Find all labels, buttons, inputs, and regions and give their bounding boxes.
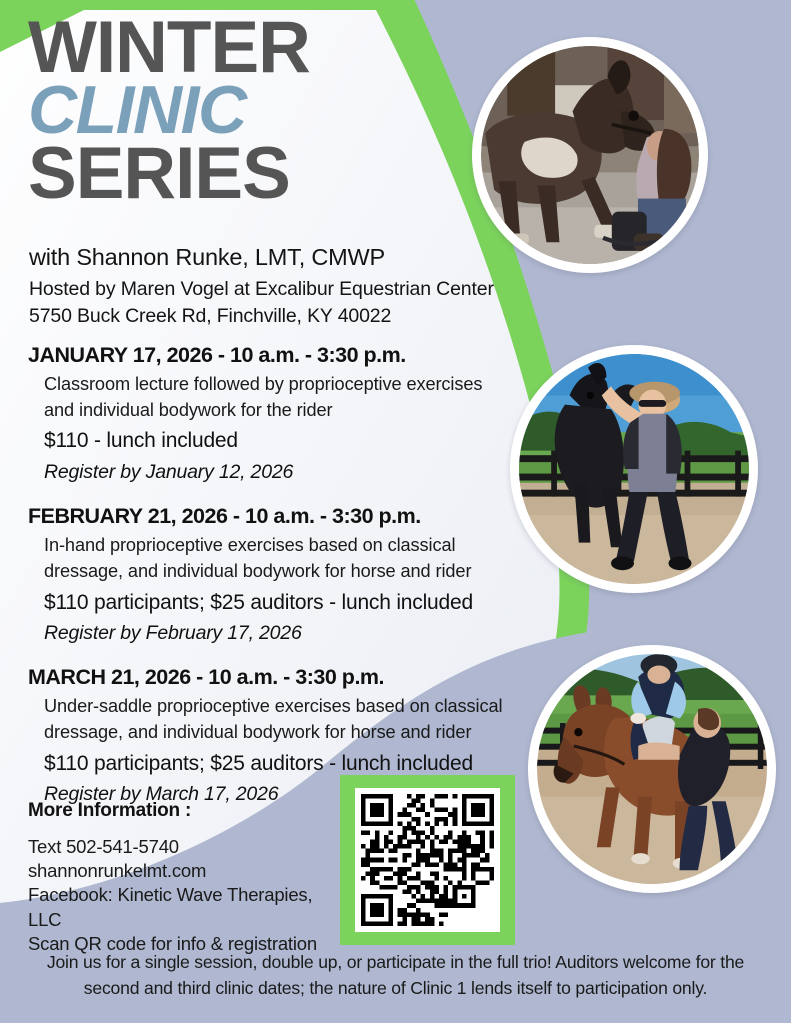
session-date: MARCH 21, 2026 - 10 a.m. - 3:30 p.m.	[28, 665, 528, 690]
venue-address: 5750 Buck Creek Rd, Finchville, KY 40022	[29, 303, 499, 330]
photo-horse-barn	[472, 37, 708, 273]
title-line-winter: WINTER	[28, 14, 458, 81]
host-line: Hosted by Maren Vogel at Excalibur Eques…	[29, 276, 499, 303]
photo-2-image	[519, 354, 749, 584]
photo-under-saddle	[528, 645, 776, 893]
more-information-heading: More Information :	[28, 800, 348, 822]
session-item: JANUARY 17, 2026 - 10 a.m. - 3:30 p.m. C…	[28, 343, 528, 486]
session-description-line: and individual bodywork for the rider	[44, 398, 528, 424]
session-list: JANUARY 17, 2026 - 10 a.m. - 3:30 p.m. C…	[28, 343, 528, 826]
qr-code-quiet-zone	[355, 788, 500, 932]
photo-in-hand-exercise	[510, 345, 758, 593]
session-date: FEBRUARY 21, 2026 - 10 a.m. - 3:30 p.m.	[28, 504, 528, 529]
footer-line: second and third clinic dates; the natur…	[38, 976, 753, 1002]
session-register-deadline: Register by February 17, 2026	[44, 620, 528, 647]
session-description-line: dressage, and individual bodywork for ho…	[44, 720, 528, 746]
footer-note: Join us for a single session, double up,…	[38, 950, 753, 1001]
footer-line: Join us for a single session, double up,…	[38, 950, 753, 976]
session-item: FEBRUARY 21, 2026 - 10 a.m. - 3:30 p.m. …	[28, 504, 528, 647]
session-description-line: In-hand proprioceptive exercises based o…	[44, 533, 528, 559]
session-price: $110 - lunch included	[44, 426, 528, 455]
session-description-line: Under-saddle proprioceptive exercises ba…	[44, 694, 528, 720]
contact-website[interactable]: shannonrunkelmt.com	[28, 859, 348, 883]
session-price: $110 participants; $25 auditors - lunch …	[44, 588, 528, 617]
title-line-series: SERIES	[28, 140, 458, 207]
session-description-line: Classroom lecture followed by propriocep…	[44, 372, 528, 398]
session-body: Classroom lecture followed by propriocep…	[28, 372, 528, 486]
flyer-canvas: WINTER CLINIC SERIES with Shannon Runke,…	[0, 0, 791, 1023]
contact-phone[interactable]: Text 502-541-5740	[28, 835, 348, 859]
qr-code-frame[interactable]	[340, 775, 515, 945]
photo-3-image	[537, 654, 767, 884]
qr-code-icon[interactable]	[361, 794, 494, 926]
session-body: In-hand proprioceptive exercises based o…	[28, 533, 528, 647]
photo-1-image	[481, 46, 699, 264]
contact-lines: Text 502-541-5740 shannonrunkelmt.com Fa…	[28, 835, 348, 956]
session-date: JANUARY 17, 2026 - 10 a.m. - 3:30 p.m.	[28, 343, 528, 368]
session-price: $110 participants; $25 auditors - lunch …	[44, 749, 528, 778]
session-description-line: dressage, and individual bodywork for ho…	[44, 559, 528, 585]
more-information-block: More Information : Text 502-541-5740 sha…	[28, 800, 348, 956]
page-title: WINTER CLINIC SERIES	[28, 14, 458, 207]
session-register-deadline: Register by January 12, 2026	[44, 459, 528, 486]
subtitle-block: with Shannon Runke, LMT, CMWP Hosted by …	[29, 243, 499, 329]
contact-facebook[interactable]: Facebook: Kinetic Wave Therapies, LLC	[28, 883, 348, 931]
presenter-name: with Shannon Runke, LMT, CMWP	[29, 243, 499, 272]
